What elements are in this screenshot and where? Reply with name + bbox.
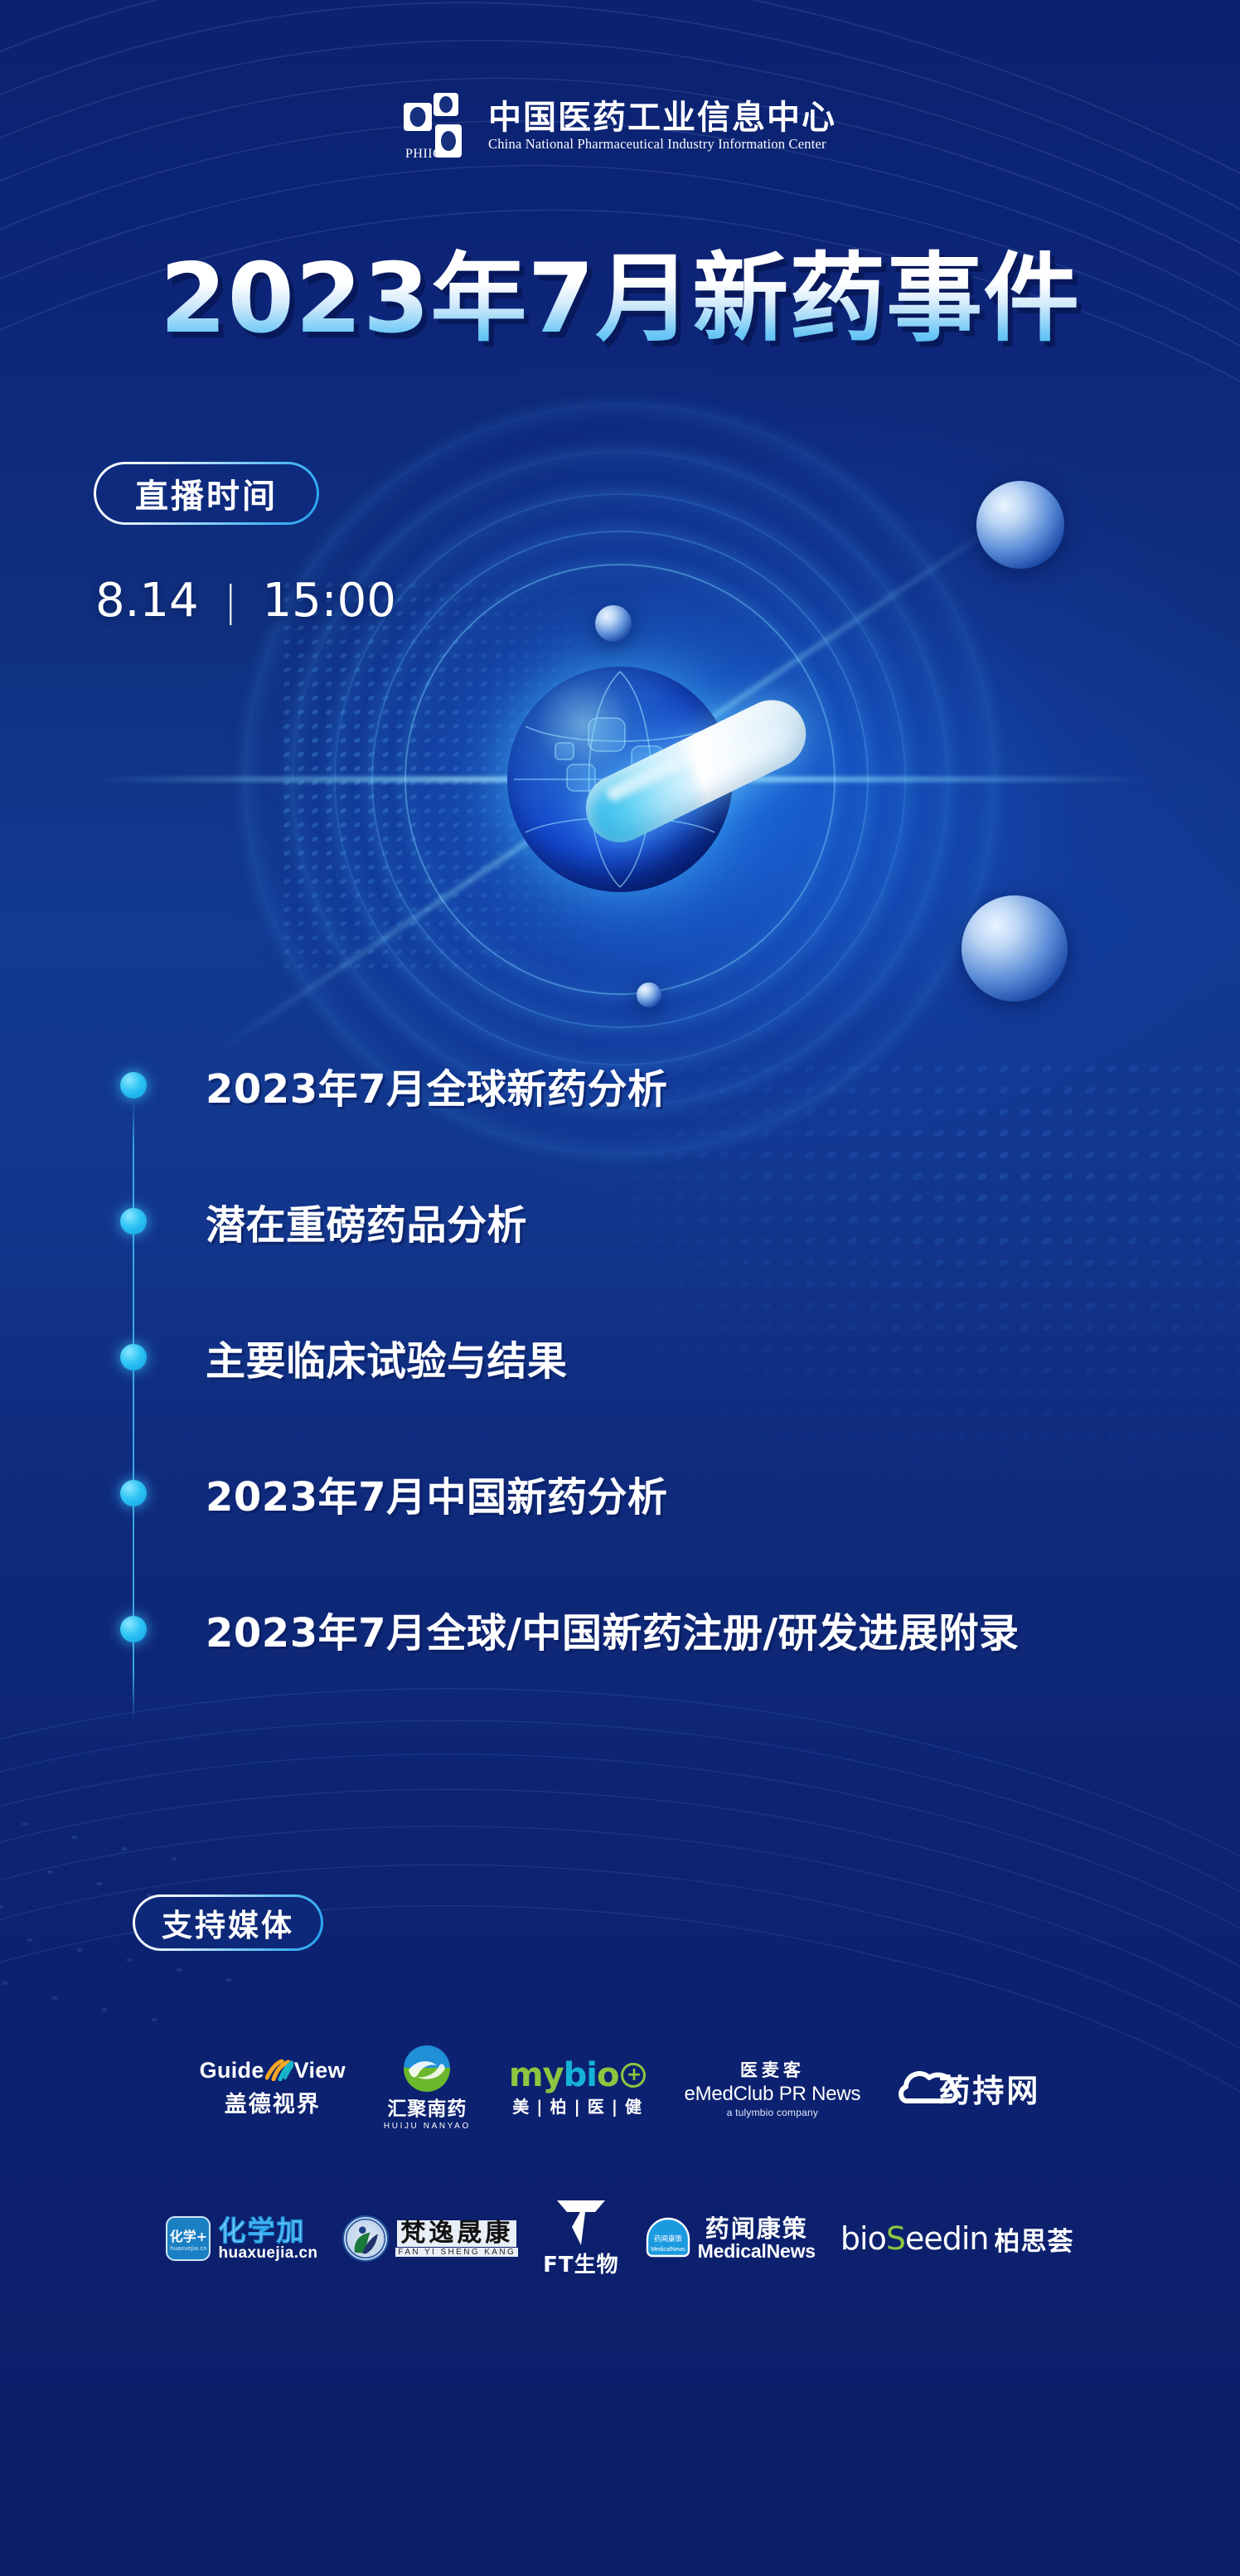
decor-sphere-b — [961, 895, 1068, 1002]
decor-sphere-d — [637, 982, 661, 1007]
emedclub-tagline: a tulymbio company — [727, 2107, 818, 2118]
bullet-dot-icon — [120, 1480, 147, 1506]
svg-text:PHIIC: PHIIC — [405, 147, 442, 161]
logo-huaxuejia[interactable]: 化学+ huaxuejia.cn 化学加 huaxuejia.cn — [166, 2216, 317, 2261]
bullet-dot-icon — [120, 1208, 147, 1235]
bioseedin-wordmark: bioSeedin — [840, 2223, 989, 2254]
medicalnews-name-cn: 药闻康策 — [705, 2216, 808, 2241]
list-item[interactable]: 2023年7月中国新药分析 — [0, 1459, 1240, 1527]
huaxuejia-name-cn: 化学加 — [218, 2217, 317, 2244]
guideview-mark-icon — [265, 2059, 293, 2081]
logo-guide-view[interactable]: Guide View 盖德视界 — [200, 2058, 346, 2118]
agenda-item-label: 2023年7月全球/中国新药注册/研发进展附录 — [206, 1600, 1020, 1658]
logo-medicalnews[interactable]: 药闻康策 MedicalNews 药闻康策 MedicalNews — [644, 2215, 816, 2263]
huiju-name-en: HUIJU NANYAO — [384, 2122, 471, 2131]
svg-text:药闻康策: 药闻康策 — [654, 2234, 683, 2244]
decor-sphere-c — [595, 605, 632, 642]
list-item[interactable]: 主要临床试验与结果 — [0, 1323, 1240, 1391]
media-logo-row-2: 化学+ huaxuejia.cn 化学加 huaxuejia.cn 梵逸晟康 F… — [0, 2181, 1240, 2297]
agenda-item-label: 潜在重磅药品分析 — [206, 1192, 527, 1250]
brand-name-cn: 中国医药工业信息中心 — [488, 100, 836, 135]
fanyishengkang-name-cn: 梵逸晟康 — [397, 2220, 516, 2247]
live-time: 15:00 — [263, 574, 396, 628]
list-item[interactable]: 潜在重磅药品分析 — [0, 1187, 1240, 1255]
live-separator: | — [224, 577, 238, 625]
bullet-dot-icon — [120, 1344, 147, 1370]
hero-graphic — [0, 464, 1240, 1094]
phiic-logo-icon: PHIIC — [404, 91, 473, 161]
media-logo-row-1: Guide View 盖德视界 — [0, 2030, 1240, 2146]
list-item[interactable]: 2023年7月全球/中国新药注册/研发进展附录 — [0, 1595, 1240, 1663]
bullet-dot-icon — [120, 1072, 147, 1099]
brand-name-en: China National Pharmaceutical Industry I… — [488, 137, 836, 152]
guideview-word-2: View — [294, 2058, 346, 2084]
medicalnews-mark-icon: 药闻康策 MedicalNews — [644, 2215, 692, 2263]
guideview-word-1: Guide — [200, 2058, 264, 2084]
mybio-wordmark: mybio — [509, 2059, 619, 2092]
page-title: 2023年7月新药事件 — [0, 245, 1240, 353]
huiju-name-cn: 汇聚南药 — [387, 2093, 467, 2121]
logo-yaochiwang[interactable]: 药持网 — [899, 2064, 1040, 2111]
list-item[interactable]: 2023年7月全球新药分析 — [0, 1051, 1240, 1119]
huaxuejia-box-cn: 化学+ — [170, 2225, 207, 2245]
huiju-mark-icon — [404, 2045, 450, 2092]
huaxuejia-mark-icon: 化学+ huaxuejia.cn — [166, 2216, 211, 2261]
agenda-item-label: 主要临床试验与结果 — [206, 1328, 568, 1386]
fanyishengkang-name-en: FAN YI SHENG KANG — [395, 2248, 518, 2257]
emedclub-name-en: eMedClub PR News — [684, 2083, 860, 2106]
ft-mark-icon — [555, 2199, 607, 2247]
logo-bioseedin[interactable]: bioSeedin 柏思荟 — [840, 2220, 1074, 2258]
huaxuejia-url: huaxuejia.cn — [218, 2245, 317, 2261]
mybio-plus-icon: + — [621, 2063, 646, 2088]
svg-text:MedicalNews: MedicalNews — [651, 2247, 685, 2253]
agenda-list: 2023年7月全球新药分析 潜在重磅药品分析 主要临床试验与结果 2023年7月… — [0, 1051, 1240, 1663]
live-datetime: 8.14 | 15:00 — [95, 574, 396, 628]
cloud-icon — [899, 2064, 960, 2111]
fanyishengkang-mark-icon — [342, 2215, 389, 2262]
bioseedin-name-cn: 柏思荟 — [995, 2220, 1074, 2258]
logo-fanyishengkang[interactable]: 梵逸晟康 FAN YI SHENG KANG — [342, 2215, 518, 2262]
huaxuejia-box-url: huaxuejia.cn — [170, 2246, 206, 2252]
poster-canvas: PHIIC 中国医药工业信息中心 China National Pharmace… — [0, 0, 1240, 2576]
agenda-item-label: 2023年7月全球新药分析 — [206, 1056, 668, 1114]
logo-emedclub[interactable]: 医麦客 eMedClub PR News a tulymbio company — [684, 2057, 860, 2118]
mybio-name-cn: 美 | 柏 | 医 | 健 — [512, 2093, 642, 2118]
guideview-name-cn: 盖德视界 — [225, 2086, 321, 2118]
emedclub-name-cn: 医麦客 — [740, 2057, 805, 2082]
supporting-media-badge: 支持媒体 — [133, 1894, 323, 1951]
brand-header: PHIIC 中国医药工业信息中心 China National Pharmace… — [0, 91, 1240, 161]
logo-huiju-nanyao[interactable]: 汇聚南药 HUIJU NANYAO — [384, 2045, 471, 2131]
bullet-dot-icon — [120, 1616, 147, 1642]
logo-mybio[interactable]: mybio + 美 | 柏 | 医 | 健 — [509, 2059, 647, 2118]
agenda-item-label: 2023年7月中国新药分析 — [206, 1464, 668, 1522]
logo-ft-bio[interactable]: FT生物 — [543, 2199, 619, 2278]
ft-bio-name: FT生物 — [543, 2248, 619, 2278]
live-time-badge: 直播时间 — [94, 462, 319, 525]
medicalnews-name-en: MedicalNews — [698, 2241, 816, 2261]
live-date: 8.14 — [95, 574, 199, 628]
decor-sphere-a — [976, 481, 1064, 569]
